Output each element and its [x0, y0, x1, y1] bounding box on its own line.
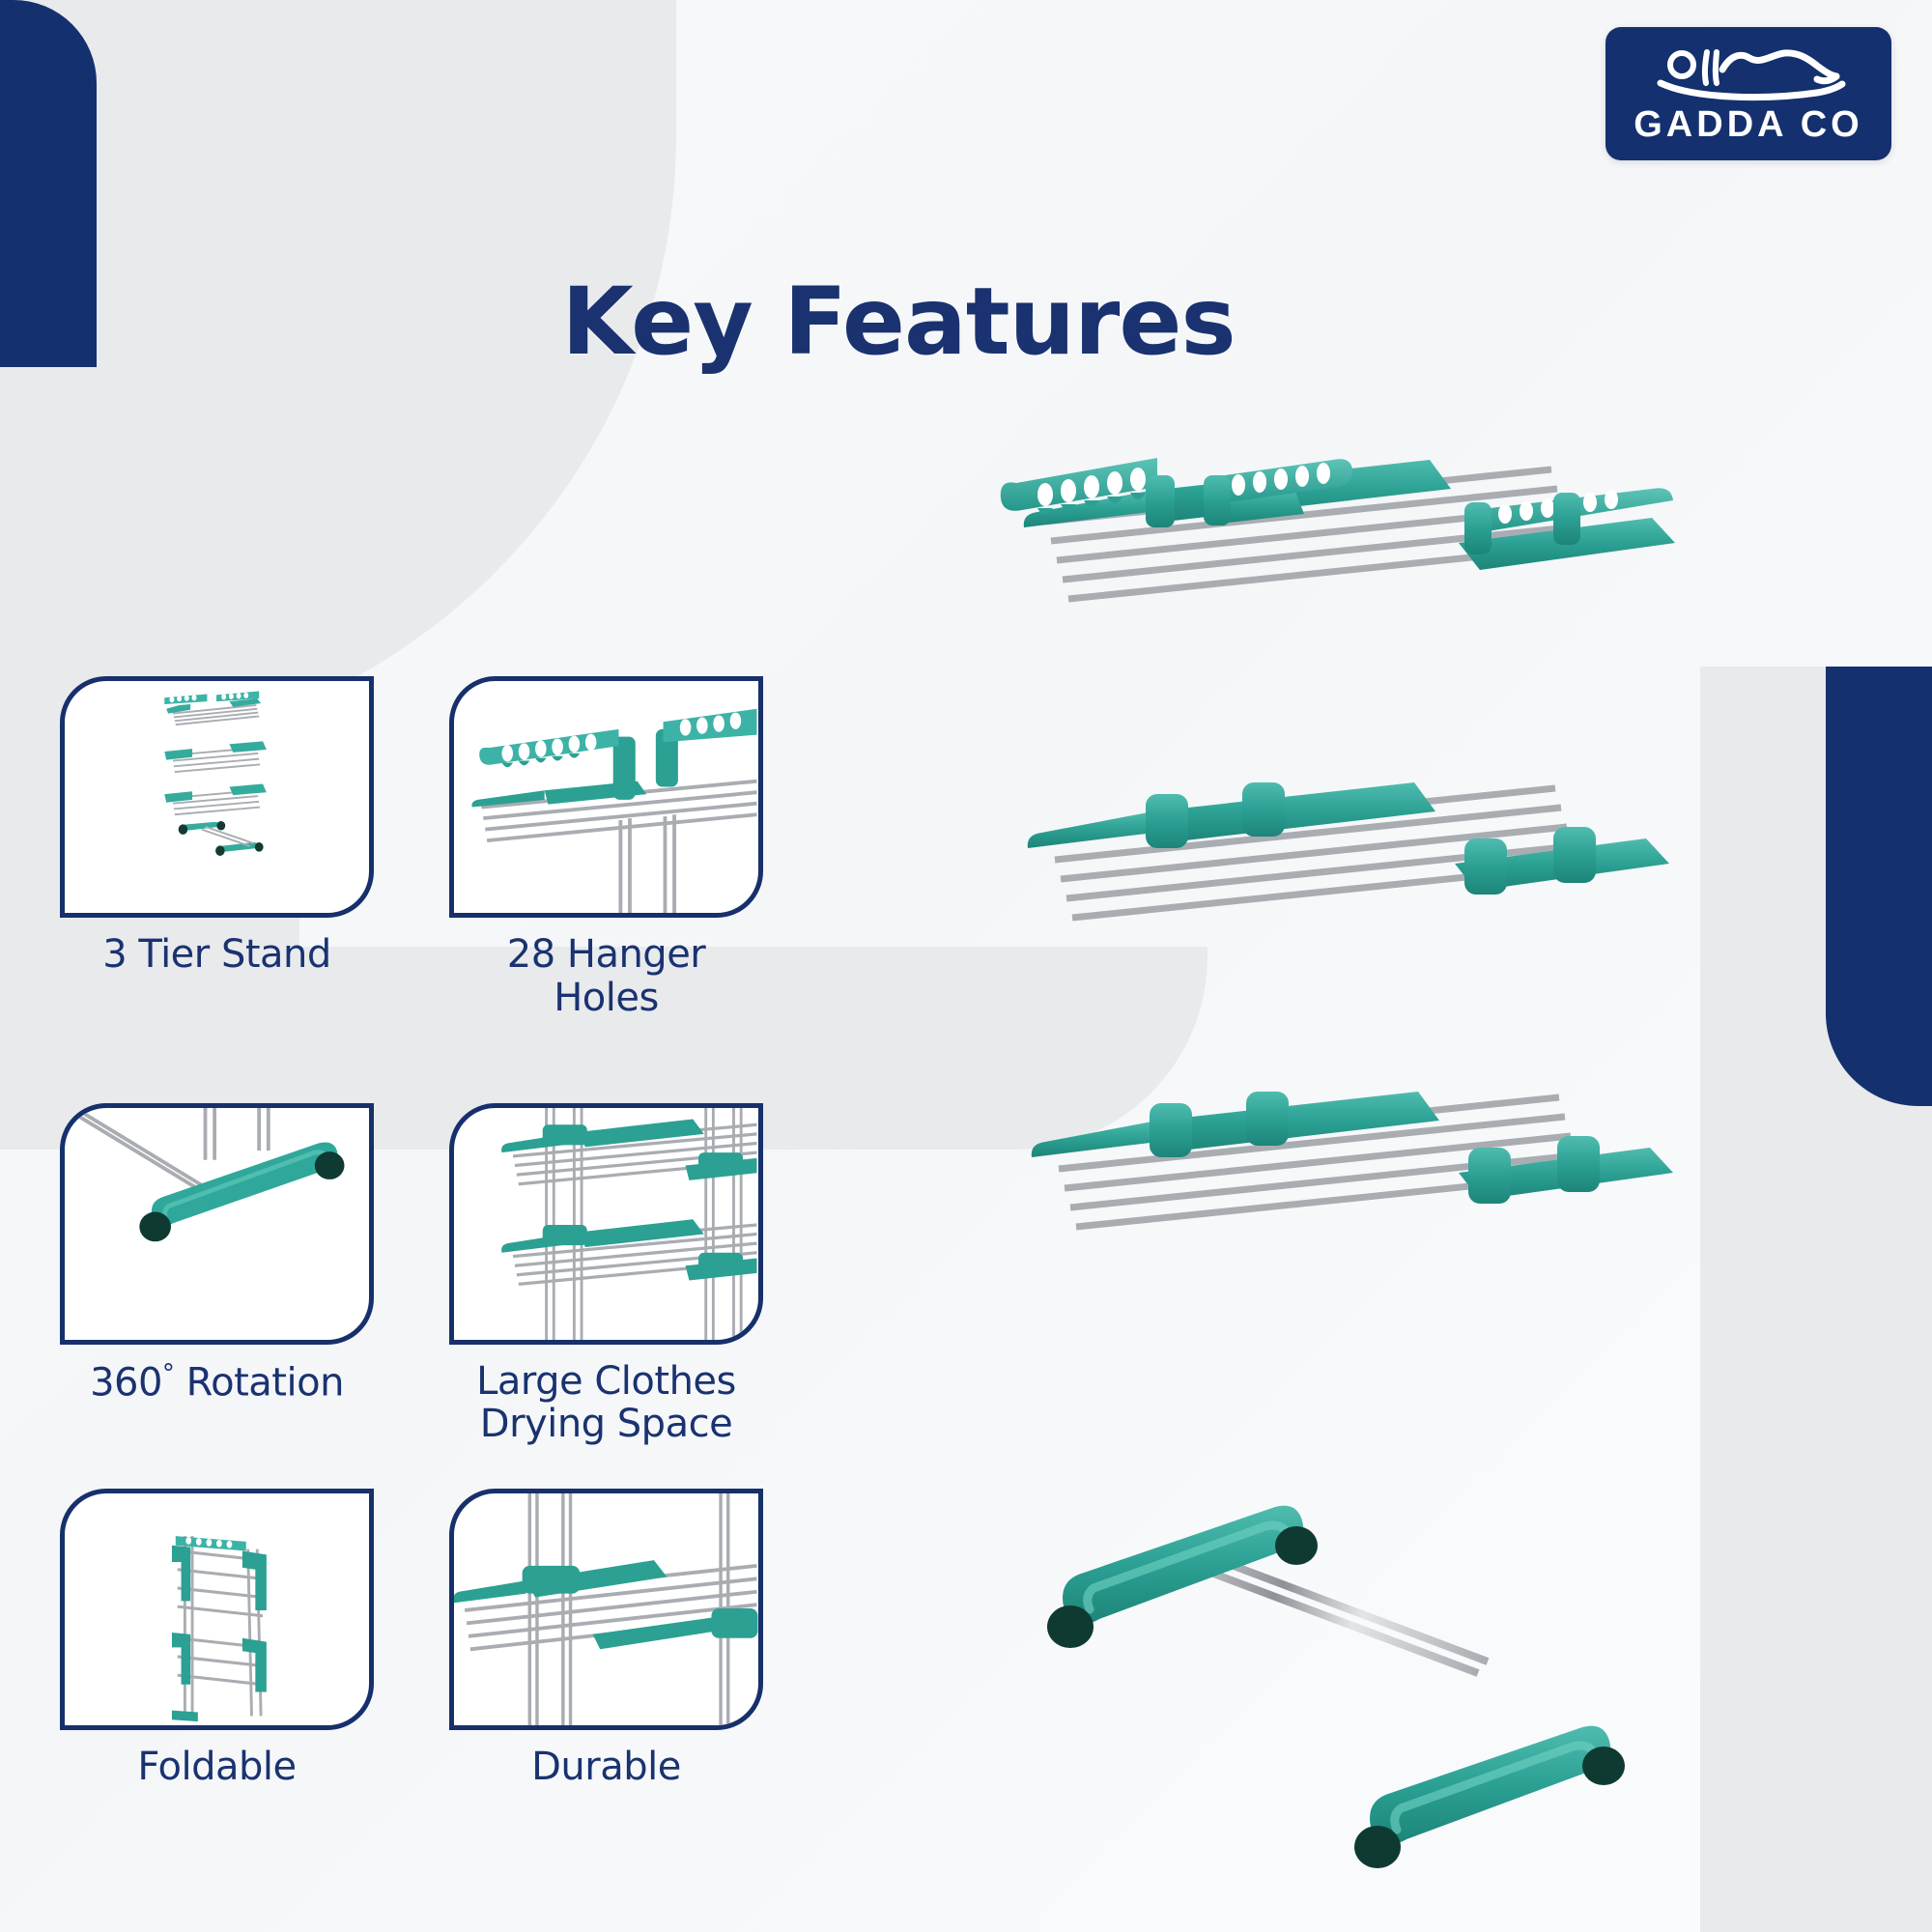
- feature-label: 3 Tier Stand: [60, 933, 374, 977]
- feature-image-card: [60, 1489, 374, 1730]
- feature-image-card: [449, 676, 763, 918]
- rotation-value: 360: [90, 1360, 162, 1405]
- infographic-canvas: GADDA CO Key Features: [0, 0, 1932, 1932]
- feature-label: 360° Rotation: [60, 1360, 374, 1405]
- row-spacer: [60, 1446, 842, 1489]
- feature-label-line1: Large Clothes: [476, 1359, 736, 1404]
- feature-item-hanger-holes[interactable]: 28 Hanger Holes: [449, 676, 763, 1020]
- decorative-navy-top-left: [0, 0, 97, 367]
- feature-label: Large ClothesDrying Space: [449, 1360, 763, 1447]
- feature-row-3: Foldable: [60, 1489, 842, 1789]
- brand-logo-badge: GADDA CO: [1605, 27, 1891, 160]
- brand-logo-text: GADDA CO: [1634, 106, 1862, 143]
- feature-item-durable[interactable]: Durable: [449, 1489, 763, 1789]
- folded-flat-rack-photo: [65, 1493, 369, 1725]
- sleeping-person-on-mattress-icon: [1647, 44, 1850, 104]
- feature-label: Foldable: [60, 1746, 374, 1789]
- feature-label: Durable: [449, 1746, 763, 1789]
- feature-item-three-tier-stand[interactable]: 3 Tier Stand: [60, 676, 374, 1020]
- teal-base-bar-with-caster-wheels-photo: [65, 1108, 369, 1340]
- row-spacer: [60, 1020, 842, 1103]
- decorative-navy-right: [1826, 667, 1932, 1106]
- feature-image-card: [60, 676, 374, 918]
- single-shelf-frame-closeup-photo: [454, 1493, 758, 1725]
- feature-item-drying-space[interactable]: Large ClothesDrying Space: [449, 1103, 763, 1447]
- degree-symbol: °: [162, 1359, 175, 1388]
- feature-image-card: [60, 1103, 374, 1345]
- feature-row-1: 3 Tier Stand: [60, 676, 842, 1020]
- page-title: Key Features: [454, 275, 1343, 368]
- hero-product-image: [976, 454, 1690, 1903]
- full-three-tier-drying-rack-photo: [65, 681, 369, 913]
- feature-row-2: 360° Rotation: [60, 1103, 842, 1447]
- feature-label: 28 Hanger Holes: [449, 933, 763, 1020]
- two-shelf-tiers-closeup-photo: [454, 1108, 758, 1340]
- teal-hanger-bar-closeup-photo: [454, 681, 758, 913]
- three-tier-clothes-drying-rack: [976, 454, 1690, 1903]
- feature-image-card: [449, 1103, 763, 1345]
- feature-grid: 3 Tier Stand: [60, 676, 842, 1789]
- feature-label-line2: Drying Space: [480, 1402, 732, 1446]
- feature-image-card: [449, 1489, 763, 1730]
- feature-item-foldable[interactable]: Foldable: [60, 1489, 374, 1789]
- feature-item-rotation[interactable]: 360° Rotation: [60, 1103, 374, 1447]
- rotation-word: Rotation: [186, 1360, 344, 1405]
